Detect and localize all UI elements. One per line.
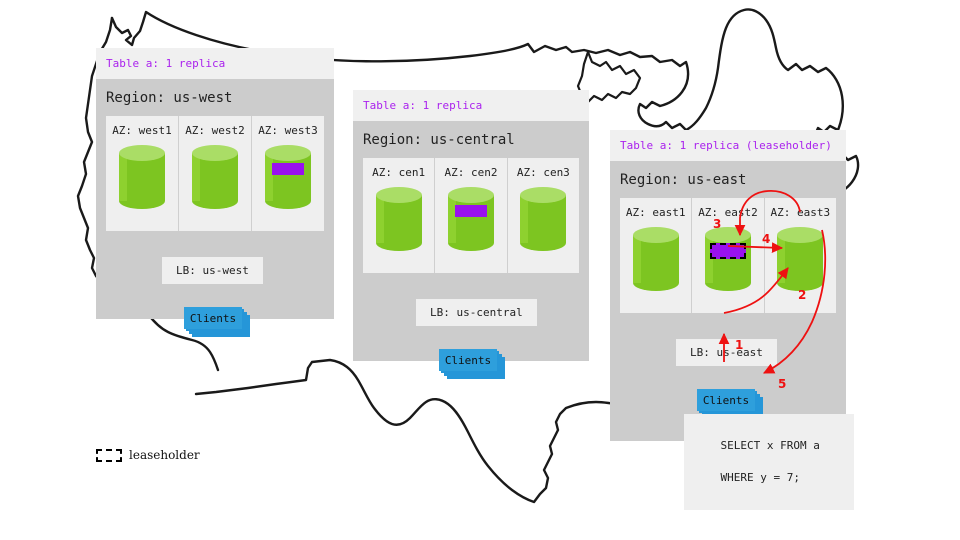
az-label-east3: AZ: east3 [765,206,836,219]
region-banner-us-west: Table a: 1 replica [96,48,334,79]
legend: leaseholder [96,448,200,462]
lb-box-us-west[interactable]: LB: us-west [162,257,263,284]
flow-step-label-1: 1 [735,338,743,352]
az-cell-east1[interactable]: AZ: east1 [620,198,692,313]
az-cell-west2[interactable]: AZ: west2 [179,116,252,231]
lb-box-us-east[interactable]: LB: us-east [676,339,777,366]
leaseholder-replica-east2 [710,243,746,259]
az-label-west2: AZ: west2 [179,124,251,137]
cylinder-top [119,145,165,161]
az-label-east2: AZ: east2 [692,206,763,219]
az-label-east1: AZ: east1 [620,206,691,219]
node-cylinder-west1[interactable] [119,145,165,209]
flow-step-label-4: 4 [762,232,770,246]
az-cell-east2[interactable]: AZ: east2 [692,198,764,313]
cylinder-shade [119,153,127,201]
clients-label-us-east: Clients [697,389,755,411]
cylinder-shade [265,153,273,201]
node-cylinder-east3[interactable] [777,227,823,291]
replica-badge-west3 [272,163,304,175]
cylinder-top [448,187,494,203]
cylinder-shade [448,195,456,243]
az-label-cen2: AZ: cen2 [435,166,506,179]
cylinder-top [633,227,679,243]
az-label-cen3: AZ: cen3 [508,166,579,179]
legend-label: leaseholder [129,448,200,462]
az-label-cen1: AZ: cen1 [363,166,434,179]
flow-step-label-3: 3 [713,217,721,231]
node-cylinder-east2[interactable] [705,227,751,291]
flow-step-label-5: 5 [778,377,786,391]
cylinder-shade [777,235,785,283]
cylinder-shade [633,235,641,283]
node-cylinder-west3[interactable] [265,145,311,209]
dashed-rect-icon [96,449,122,462]
replica-badge-cen2 [455,205,487,217]
cylinder-top [265,145,311,161]
cylinder-top [520,187,566,203]
sql-line-2: WHERE y = 7; [721,471,800,484]
region-body-us-east: Region: us-east AZ: east1 AZ: east2 [610,161,846,441]
sql-line-1: SELECT x FROM a [721,439,820,452]
cylinder-top [376,187,422,203]
diagram-canvas: Table a: 1 replica Region: us-west AZ: w… [0,0,960,540]
lb-box-us-central[interactable]: LB: us-central [416,299,537,326]
node-cylinder-cen2[interactable] [448,187,494,251]
sql-query-box: SELECT x FROM a WHERE y = 7; [684,414,854,510]
node-cylinder-cen3[interactable] [520,187,566,251]
cylinder-shade [520,195,528,243]
region-panel-us-central: Table a: 1 replica Region: us-central AZ… [353,90,589,361]
az-row-us-central: AZ: cen1 AZ: cen2 [363,158,579,273]
region-title-us-west: Region: us-west [96,79,334,116]
cylinder-top [777,227,823,243]
cylinder-top [192,145,238,161]
az-cell-cen2[interactable]: AZ: cen2 [435,158,507,273]
clients-stack-us-west[interactable]: Clients [184,307,246,333]
region-banner-us-central: Table a: 1 replica [353,90,589,121]
az-cell-west3[interactable]: AZ: west3 [252,116,324,231]
az-cell-west1[interactable]: AZ: west1 [106,116,179,231]
region-banner-us-east: Table a: 1 replica (leaseholder) [610,130,846,161]
cylinder-shade [192,153,200,201]
region-body-us-central: Region: us-central AZ: cen1 AZ: cen2 [353,121,589,361]
clients-stack-us-east[interactable]: Clients [697,389,759,415]
node-cylinder-west2[interactable] [192,145,238,209]
clients-label-us-central: Clients [439,349,497,371]
cylinder-top [705,227,751,243]
node-cylinder-east1[interactable] [633,227,679,291]
region-body-us-west: Region: us-west AZ: west1 AZ: west2 [96,79,334,319]
az-cell-cen3[interactable]: AZ: cen3 [508,158,579,273]
region-title-us-central: Region: us-central [353,121,589,158]
az-label-west1: AZ: west1 [106,124,178,137]
az-cell-cen1[interactable]: AZ: cen1 [363,158,435,273]
region-panel-us-west: Table a: 1 replica Region: us-west AZ: w… [96,48,334,319]
region-title-us-east: Region: us-east [610,161,846,198]
flow-step-label-2: 2 [798,288,806,302]
az-label-west3: AZ: west3 [252,124,324,137]
cylinder-shade [376,195,384,243]
region-panel-us-east: Table a: 1 replica (leaseholder) Region:… [610,130,846,441]
node-cylinder-cen1[interactable] [376,187,422,251]
clients-stack-us-central[interactable]: Clients [439,349,501,375]
az-row-us-west: AZ: west1 AZ: west2 [106,116,324,231]
clients-label-us-west: Clients [184,307,242,329]
